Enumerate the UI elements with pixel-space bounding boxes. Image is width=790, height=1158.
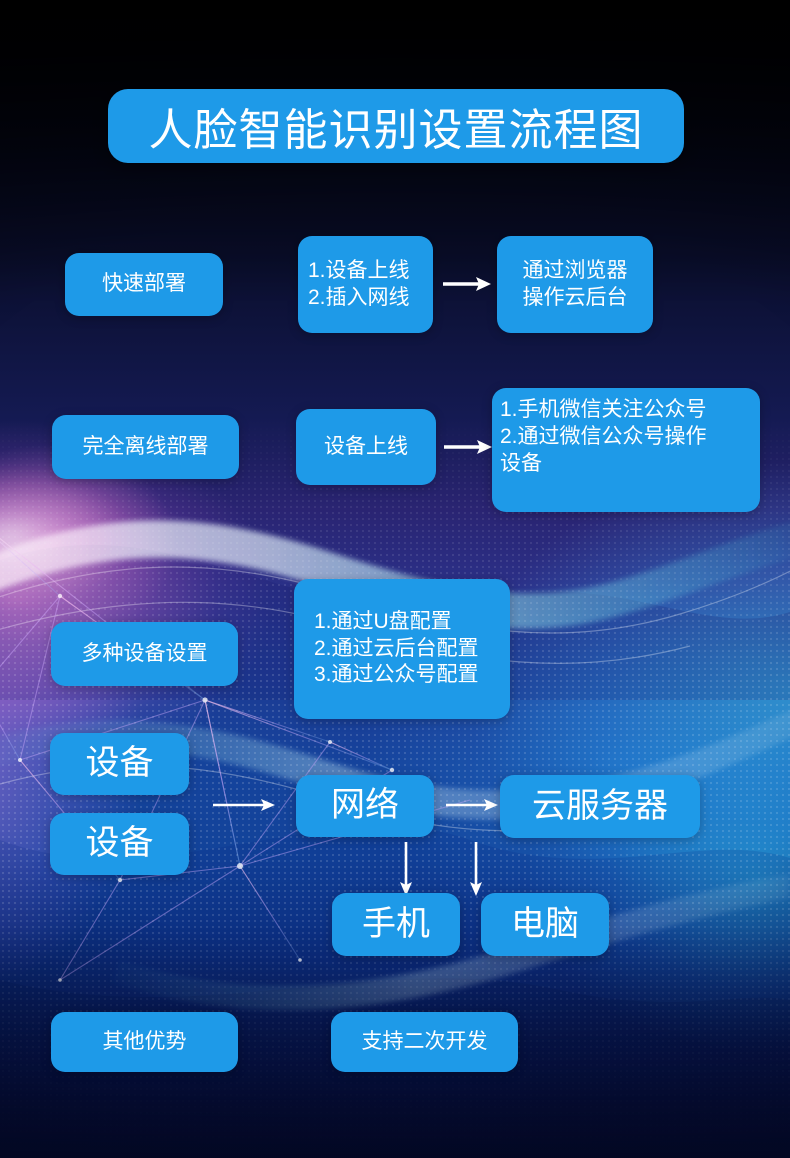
- arrow-right-icon: [213, 793, 275, 817]
- row2-steps-box[interactable]: 设备上线: [296, 409, 436, 485]
- flowchart-poster: 人脸智能识别设置流程图 快速部署 1.设备上线 2.插入网线 通过浏览器 操作云…: [0, 0, 790, 1158]
- arrow-network-to-cloud: [446, 793, 498, 817]
- topology-computer-box[interactable]: 电脑: [481, 893, 609, 956]
- row3-options-box[interactable]: 1.通过U盘配置 2.通过云后台配置 3.通过公众号配置: [294, 579, 510, 719]
- row5-feature-box[interactable]: 支持二次开发: [331, 1012, 518, 1072]
- topology-cloud-server-box[interactable]: 云服务器: [500, 775, 700, 838]
- topology-device-1-box[interactable]: 设备: [50, 733, 189, 795]
- row2-label-box[interactable]: 完全离线部署: [52, 415, 239, 479]
- topology-device-2-box[interactable]: 设备: [50, 813, 189, 875]
- arrow-right-icon: [446, 793, 498, 817]
- row1-label-box[interactable]: 快速部署: [65, 253, 223, 316]
- page-title: 人脸智能识别设置流程图: [108, 89, 684, 163]
- row2-arrow: [444, 435, 492, 459]
- arrow-down-icon: [394, 842, 418, 896]
- arrow-cloud-to-computer: [464, 842, 488, 896]
- arrow-down-icon: [464, 842, 488, 896]
- row1-result-box[interactable]: 通过浏览器 操作云后台: [497, 236, 653, 333]
- row2-result-box[interactable]: 1.手机微信关注公众号 2.通过微信公众号操作 设备: [492, 388, 760, 512]
- row1-arrow: [443, 272, 491, 296]
- row5-label-box[interactable]: 其他优势: [51, 1012, 238, 1072]
- row3-label-box[interactable]: 多种设备设置: [51, 622, 238, 686]
- arrow-right-icon: [444, 435, 492, 459]
- arrow-network-to-phone: [394, 842, 418, 896]
- arrow-right-icon: [443, 272, 491, 296]
- row1-steps-box[interactable]: 1.设备上线 2.插入网线: [298, 236, 433, 333]
- topology-network-box[interactable]: 网络: [296, 775, 434, 837]
- arrow-devices-to-network: [213, 793, 275, 817]
- topology-phone-box[interactable]: 手机: [332, 893, 460, 956]
